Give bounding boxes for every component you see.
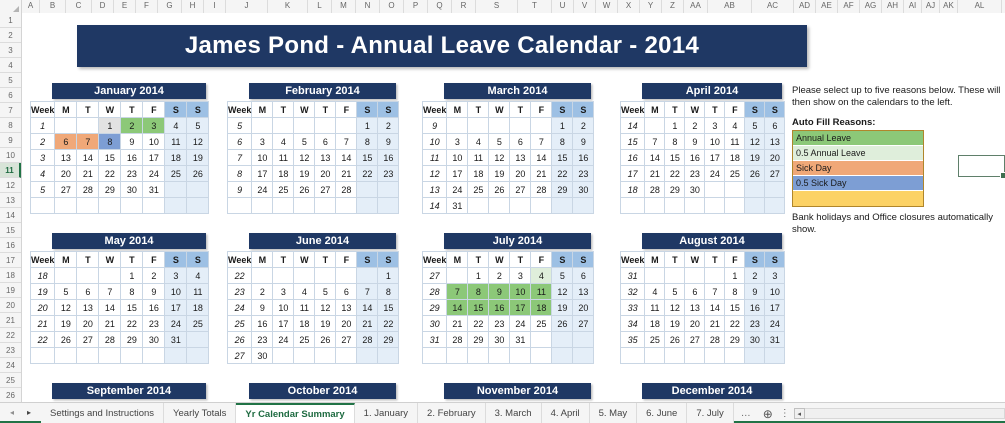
calendar-day-cell[interactable]: 22 xyxy=(725,316,745,332)
column-header-AD[interactable]: AD xyxy=(794,0,816,13)
calendar-day-cell[interactable]: 13 xyxy=(336,300,357,316)
calendar-day-cell[interactable]: 25 xyxy=(645,332,665,348)
calendar-day-cell[interactable]: 2 xyxy=(745,268,765,284)
calendar-empty-cell[interactable] xyxy=(378,182,399,198)
sheet-tab[interactable]: 2. February xyxy=(418,403,486,423)
calendar-empty-cell[interactable] xyxy=(315,348,336,364)
row-header-13[interactable]: 13 xyxy=(0,193,21,208)
horizontal-scrollbar[interactable]: ◂ xyxy=(792,403,1005,423)
calendar-day-cell[interactable]: 21 xyxy=(705,316,725,332)
calendar-day-cell[interactable]: 10 xyxy=(765,284,785,300)
column-header-AL[interactable]: AL xyxy=(958,0,1002,13)
calendar-day-cell[interactable]: 9 xyxy=(121,134,143,150)
calendar-day-cell[interactable]: 4 xyxy=(165,118,187,134)
column-header-AJ[interactable]: AJ xyxy=(922,0,940,13)
calendar-empty-cell[interactable] xyxy=(645,268,665,284)
calendar-day-cell[interactable]: 16 xyxy=(143,300,165,316)
select-all-corner[interactable] xyxy=(0,0,22,13)
column-header-O[interactable]: O xyxy=(380,0,404,13)
calendar-day-cell[interactable]: 14 xyxy=(531,150,552,166)
calendar-day-cell[interactable]: 26 xyxy=(294,182,315,198)
calendar-day-cell[interactable]: 22 xyxy=(665,166,685,182)
calendar-empty-cell[interactable] xyxy=(336,268,357,284)
calendar-day-cell[interactable]: 21 xyxy=(77,166,99,182)
calendar-empty-cell[interactable] xyxy=(447,118,468,134)
calendar-empty-cell[interactable] xyxy=(765,182,785,198)
calendar-empty-cell[interactable] xyxy=(468,198,489,214)
calendar-day-cell[interactable]: 4 xyxy=(294,284,315,300)
calendar-empty-cell[interactable] xyxy=(273,348,294,364)
scroll-left-icon[interactable]: ◂ xyxy=(794,408,805,419)
column-header-P[interactable]: P xyxy=(404,0,428,13)
calendar-day-cell[interactable]: 21 xyxy=(447,316,468,332)
calendar-day-cell[interactable]: 9 xyxy=(685,134,705,150)
calendar-day-cell[interactable]: 20 xyxy=(55,166,77,182)
calendar-day-cell[interactable]: 20 xyxy=(685,316,705,332)
calendar-empty-cell[interactable] xyxy=(165,182,187,198)
sheet-tab-active[interactable]: Yr Calendar Summary xyxy=(236,403,354,423)
calendar-day-cell[interactable]: 8 xyxy=(552,134,573,150)
calendar-empty-cell[interactable] xyxy=(294,268,315,284)
column-header-V[interactable]: V xyxy=(574,0,596,13)
calendar-day-cell[interactable]: 1 xyxy=(725,268,745,284)
sheet-tab[interactable]: Yearly Totals xyxy=(164,403,236,423)
calendar-day-cell[interactable]: 17 xyxy=(510,300,531,316)
calendar-day-cell[interactable]: 7 xyxy=(645,134,665,150)
calendar-empty-cell[interactable] xyxy=(552,332,573,348)
calendar-empty-cell[interactable] xyxy=(665,348,685,364)
column-header-F[interactable]: F xyxy=(136,0,158,13)
calendar-empty-cell[interactable] xyxy=(725,348,745,364)
calendar-empty-cell[interactable] xyxy=(685,198,705,214)
calendar-day-cell[interactable]: 1 xyxy=(468,268,489,284)
calendar-empty-cell[interactable] xyxy=(294,118,315,134)
sheet-tab[interactable]: 6. June xyxy=(637,403,687,423)
calendar-empty-cell[interactable] xyxy=(645,198,665,214)
row-header-16[interactable]: 16 xyxy=(0,238,21,253)
column-header-AC[interactable]: AC xyxy=(752,0,794,13)
calendar-day-cell[interactable]: 28 xyxy=(99,332,121,348)
calendar-day-cell[interactable]: 3 xyxy=(273,284,294,300)
calendar-day-cell[interactable]: 10 xyxy=(143,134,165,150)
legend-reason-row[interactable]: 0.5 Sick Day xyxy=(793,176,923,191)
calendar-day-cell[interactable]: 30 xyxy=(252,348,273,364)
calendar-day-cell[interactable]: 11 xyxy=(645,300,665,316)
column-header-C[interactable]: C xyxy=(66,0,92,13)
calendar-day-cell[interactable]: 3 xyxy=(165,268,187,284)
calendar-day-cell[interactable]: 4 xyxy=(273,134,294,150)
calendar-day-cell[interactable]: 2 xyxy=(489,268,510,284)
calendar-day-cell[interactable]: 10 xyxy=(165,284,187,300)
calendar-day-cell[interactable]: 29 xyxy=(468,332,489,348)
calendar-empty-cell[interactable] xyxy=(725,198,745,214)
calendar-day-cell[interactable]: 14 xyxy=(77,150,99,166)
calendar-day-cell[interactable]: 18 xyxy=(187,300,209,316)
calendar-empty-cell[interactable] xyxy=(187,198,209,214)
calendar-day-cell[interactable]: 22 xyxy=(121,316,143,332)
calendar-day-cell[interactable]: 7 xyxy=(447,284,468,300)
calendar-day-cell[interactable]: 11 xyxy=(725,134,745,150)
calendar-empty-cell[interactable] xyxy=(725,182,745,198)
calendar-day-cell[interactable]: 12 xyxy=(315,300,336,316)
row-header-1[interactable]: 1 xyxy=(0,13,21,28)
tab-menu-icon[interactable]: ⋮ xyxy=(778,403,792,423)
calendar-day-cell[interactable]: 12 xyxy=(55,300,77,316)
column-header-AH[interactable]: AH xyxy=(882,0,904,13)
calendar-empty-cell[interactable] xyxy=(573,198,594,214)
calendar-empty-cell[interactable] xyxy=(77,118,99,134)
calendar-day-cell[interactable]: 31 xyxy=(765,332,785,348)
calendar-day-cell[interactable]: 15 xyxy=(665,150,685,166)
calendar-empty-cell[interactable] xyxy=(99,268,121,284)
row-header-2[interactable]: 2 xyxy=(0,28,21,43)
calendar-day-cell[interactable]: 24 xyxy=(143,166,165,182)
row-header-3[interactable]: 3 xyxy=(0,43,21,58)
sheet-canvas[interactable]: James Pond - Annual Leave Calendar - 201… xyxy=(22,13,1005,402)
calendar-empty-cell[interactable] xyxy=(378,198,399,214)
calendar-day-cell[interactable]: 12 xyxy=(187,134,209,150)
sheet-tab[interactable]: 3. March xyxy=(486,403,542,423)
calendar-day-cell[interactable]: 7 xyxy=(99,284,121,300)
add-sheet-icon[interactable]: ⊕ xyxy=(758,403,778,423)
calendar-day-cell[interactable]: 18 xyxy=(294,316,315,332)
scroll-track[interactable] xyxy=(805,408,1005,419)
calendar-day-cell[interactable]: 7 xyxy=(705,284,725,300)
calendar-empty-cell[interactable] xyxy=(187,332,209,348)
calendar-day-cell[interactable]: 11 xyxy=(165,134,187,150)
row-header-17[interactable]: 17 xyxy=(0,253,21,268)
row-header-14[interactable]: 14 xyxy=(0,208,21,223)
calendar-day-cell[interactable]: 12 xyxy=(294,150,315,166)
calendar-day-cell[interactable]: 28 xyxy=(645,182,665,198)
calendar-day-cell[interactable]: 29 xyxy=(121,332,143,348)
calendar-day-cell[interactable]: 31 xyxy=(165,332,187,348)
calendar-day-cell[interactable]: 29 xyxy=(378,332,399,348)
calendar-day-cell[interactable]: 19 xyxy=(187,150,209,166)
calendar-day-cell[interactable]: 15 xyxy=(378,300,399,316)
calendar-empty-cell[interactable] xyxy=(187,182,209,198)
calendar-day-cell[interactable]: 19 xyxy=(665,316,685,332)
calendar-empty-cell[interactable] xyxy=(573,332,594,348)
calendar-day-cell[interactable]: 15 xyxy=(99,150,121,166)
calendar-day-cell[interactable]: 11 xyxy=(294,300,315,316)
row-header-24[interactable]: 24 xyxy=(0,358,21,373)
calendar-empty-cell[interactable] xyxy=(99,198,121,214)
row-header-6[interactable]: 6 xyxy=(0,88,21,103)
calendar-empty-cell[interactable] xyxy=(531,118,552,134)
calendar-day-cell[interactable]: 8 xyxy=(378,284,399,300)
calendar-empty-cell[interactable] xyxy=(447,268,468,284)
calendar-empty-cell[interactable] xyxy=(510,118,531,134)
column-header-A[interactable]: A xyxy=(22,0,40,13)
sheet-tab[interactable]: 5. May xyxy=(590,403,638,423)
calendar-empty-cell[interactable] xyxy=(745,182,765,198)
calendar-empty-cell[interactable] xyxy=(121,348,143,364)
calendar-day-cell[interactable]: 29 xyxy=(725,332,745,348)
calendar-day-cell[interactable]: 7 xyxy=(336,134,357,150)
column-header-K[interactable]: K xyxy=(268,0,308,13)
row-header-11[interactable]: 11 xyxy=(0,163,21,178)
calendar-day-cell[interactable]: 8 xyxy=(99,134,121,150)
calendar-empty-cell[interactable] xyxy=(378,348,399,364)
column-header-E[interactable]: E xyxy=(114,0,136,13)
calendar-empty-cell[interactable] xyxy=(273,118,294,134)
column-header-Q[interactable]: Q xyxy=(428,0,452,13)
sheet-tab[interactable]: 1. January xyxy=(355,403,418,423)
calendar-day-cell[interactable]: 1 xyxy=(378,268,399,284)
calendar-day-cell[interactable]: 31 xyxy=(143,182,165,198)
calendar-day-cell[interactable]: 31 xyxy=(447,198,468,214)
calendar-day-cell[interactable]: 23 xyxy=(745,316,765,332)
calendar-day-cell[interactable]: 3 xyxy=(705,118,725,134)
calendar-empty-cell[interactable] xyxy=(447,348,468,364)
calendar-day-cell[interactable]: 15 xyxy=(552,150,573,166)
calendar-empty-cell[interactable] xyxy=(315,268,336,284)
calendar-day-cell[interactable]: 25 xyxy=(294,332,315,348)
calendar-empty-cell[interactable] xyxy=(55,348,77,364)
calendar-empty-cell[interactable] xyxy=(165,348,187,364)
tab-nav-next-icon[interactable]: ▸ xyxy=(21,403,37,421)
calendar-empty-cell[interactable] xyxy=(357,182,378,198)
calendar-empty-cell[interactable] xyxy=(489,348,510,364)
calendar-empty-cell[interactable] xyxy=(645,118,665,134)
calendar-day-cell[interactable]: 23 xyxy=(685,166,705,182)
calendar-day-cell[interactable]: 23 xyxy=(489,316,510,332)
calendar-day-cell[interactable]: 20 xyxy=(765,150,785,166)
calendar-empty-cell[interactable] xyxy=(468,118,489,134)
calendar-day-cell[interactable]: 28 xyxy=(447,332,468,348)
calendar-day-cell[interactable]: 8 xyxy=(121,284,143,300)
calendar-day-cell[interactable]: 30 xyxy=(121,182,143,198)
calendar-day-cell[interactable]: 8 xyxy=(357,134,378,150)
calendar-empty-cell[interactable] xyxy=(705,198,725,214)
column-header-AF[interactable]: AF xyxy=(838,0,860,13)
tab-overflow-indicator[interactable]: … xyxy=(734,403,758,423)
calendar-day-cell[interactable]: 5 xyxy=(552,268,573,284)
row-header-7[interactable]: 7 xyxy=(0,103,21,118)
calendar-empty-cell[interactable] xyxy=(531,198,552,214)
calendar-day-cell[interactable]: 9 xyxy=(378,134,399,150)
calendar-empty-cell[interactable] xyxy=(315,118,336,134)
calendar-day-cell[interactable]: 19 xyxy=(315,316,336,332)
row-header-4[interactable]: 4 xyxy=(0,58,21,73)
calendar-empty-cell[interactable] xyxy=(665,268,685,284)
calendar-day-cell[interactable]: 27 xyxy=(55,182,77,198)
calendar-empty-cell[interactable] xyxy=(531,332,552,348)
calendar-day-cell[interactable]: 20 xyxy=(336,316,357,332)
calendar-day-cell[interactable]: 17 xyxy=(252,166,273,182)
column-header-M[interactable]: M xyxy=(332,0,356,13)
calendar-day-cell[interactable]: 5 xyxy=(187,118,209,134)
column-header-T[interactable]: T xyxy=(518,0,552,13)
row-header-9[interactable]: 9 xyxy=(0,133,21,148)
calendar-day-cell[interactable]: 18 xyxy=(725,150,745,166)
column-header-J[interactable]: J xyxy=(226,0,268,13)
calendar-day-cell[interactable]: 29 xyxy=(99,182,121,198)
calendar-day-cell[interactable]: 6 xyxy=(685,284,705,300)
calendar-day-cell[interactable]: 18 xyxy=(645,316,665,332)
calendar-day-cell[interactable]: 6 xyxy=(510,134,531,150)
row-header-19[interactable]: 19 xyxy=(0,283,21,298)
calendar-day-cell[interactable]: 15 xyxy=(121,300,143,316)
calendar-day-cell[interactable]: 7 xyxy=(77,134,99,150)
column-header-Z[interactable]: Z xyxy=(662,0,684,13)
column-header-G[interactable]: G xyxy=(158,0,182,13)
calendar-day-cell[interactable]: 6 xyxy=(77,284,99,300)
calendar-day-cell[interactable]: 23 xyxy=(378,166,399,182)
calendar-day-cell[interactable]: 26 xyxy=(665,332,685,348)
calendar-day-cell[interactable]: 16 xyxy=(378,150,399,166)
calendar-day-cell[interactable]: 24 xyxy=(273,332,294,348)
calendar-day-cell[interactable]: 20 xyxy=(315,166,336,182)
calendar-day-cell[interactable]: 21 xyxy=(645,166,665,182)
calendar-day-cell[interactable]: 18 xyxy=(531,300,552,316)
calendar-day-cell[interactable]: 9 xyxy=(489,284,510,300)
calendar-empty-cell[interactable] xyxy=(77,348,99,364)
calendar-day-cell[interactable]: 16 xyxy=(489,300,510,316)
calendar-day-cell[interactable]: 24 xyxy=(252,182,273,198)
calendar-grid[interactable]: WeekMTWTFSS22123234567824910111213141525… xyxy=(227,251,399,364)
calendar-empty-cell[interactable] xyxy=(143,348,165,364)
calendar-day-cell[interactable]: 17 xyxy=(705,150,725,166)
column-header-Y[interactable]: Y xyxy=(640,0,662,13)
calendar-day-cell[interactable]: 13 xyxy=(685,300,705,316)
calendar-empty-cell[interactable] xyxy=(143,198,165,214)
calendar-day-cell[interactable]: 29 xyxy=(665,182,685,198)
calendar-day-cell[interactable]: 3 xyxy=(143,118,165,134)
calendar-day-cell[interactable]: 6 xyxy=(573,268,594,284)
calendar-day-cell[interactable]: 19 xyxy=(294,166,315,182)
calendar-empty-cell[interactable] xyxy=(121,198,143,214)
calendar-empty-cell[interactable] xyxy=(552,348,573,364)
calendar-empty-cell[interactable] xyxy=(552,198,573,214)
column-header-X[interactable]: X xyxy=(618,0,640,13)
calendar-day-cell[interactable]: 21 xyxy=(99,316,121,332)
calendar-day-cell[interactable]: 27 xyxy=(765,166,785,182)
calendar-day-cell[interactable]: 7 xyxy=(531,134,552,150)
calendar-day-cell[interactable]: 21 xyxy=(336,166,357,182)
row-header-18[interactable]: 18 xyxy=(0,268,21,283)
calendar-day-cell[interactable]: 23 xyxy=(143,316,165,332)
calendar-day-cell[interactable]: 11 xyxy=(468,150,489,166)
calendar-day-cell[interactable]: 14 xyxy=(99,300,121,316)
calendar-day-cell[interactable]: 28 xyxy=(77,182,99,198)
calendar-day-cell[interactable]: 20 xyxy=(573,300,594,316)
calendar-day-cell[interactable]: 13 xyxy=(77,300,99,316)
calendar-day-cell[interactable]: 26 xyxy=(745,166,765,182)
calendar-empty-cell[interactable] xyxy=(765,198,785,214)
calendar-empty-cell[interactable] xyxy=(77,198,99,214)
calendar-day-cell[interactable]: 24 xyxy=(165,316,187,332)
calendar-day-cell[interactable]: 2 xyxy=(252,284,273,300)
calendar-day-cell[interactable]: 17 xyxy=(765,300,785,316)
calendar-day-cell[interactable]: 15 xyxy=(357,150,378,166)
calendar-day-cell[interactable]: 17 xyxy=(165,300,187,316)
calendar-day-cell[interactable]: 26 xyxy=(552,316,573,332)
calendar-day-cell[interactable]: 4 xyxy=(645,284,665,300)
calendar-day-cell[interactable]: 16 xyxy=(745,300,765,316)
calendar-day-cell[interactable]: 24 xyxy=(510,316,531,332)
calendar-day-cell[interactable]: 19 xyxy=(745,150,765,166)
calendar-day-cell[interactable]: 25 xyxy=(273,182,294,198)
calendar-day-cell[interactable]: 22 xyxy=(552,166,573,182)
sheet-tab[interactable]: Settings and Instructions xyxy=(41,403,164,423)
calendar-day-cell[interactable]: 27 xyxy=(685,332,705,348)
calendar-day-cell[interactable]: 4 xyxy=(531,268,552,284)
calendar-empty-cell[interactable] xyxy=(685,348,705,364)
calendar-day-cell[interactable]: 16 xyxy=(573,150,594,166)
calendar-empty-cell[interactable] xyxy=(336,118,357,134)
column-header-AG[interactable]: AG xyxy=(860,0,882,13)
calendar-empty-cell[interactable] xyxy=(468,348,489,364)
calendar-day-cell[interactable]: 2 xyxy=(121,118,143,134)
row-header-25[interactable]: 25 xyxy=(0,373,21,388)
calendar-day-cell[interactable]: 6 xyxy=(55,134,77,150)
calendar-empty-cell[interactable] xyxy=(357,198,378,214)
calendar-empty-cell[interactable] xyxy=(273,268,294,284)
calendar-day-cell[interactable]: 8 xyxy=(468,284,489,300)
calendar-day-cell[interactable]: 15 xyxy=(725,300,745,316)
calendar-day-cell[interactable]: 17 xyxy=(273,316,294,332)
calendar-day-cell[interactable]: 10 xyxy=(705,134,725,150)
calendar-day-cell[interactable]: 27 xyxy=(77,332,99,348)
column-header-I[interactable]: I xyxy=(204,0,226,13)
calendar-day-cell[interactable]: 9 xyxy=(143,284,165,300)
calendar-day-cell[interactable]: 11 xyxy=(273,150,294,166)
calendar-day-cell[interactable]: 27 xyxy=(315,182,336,198)
calendar-empty-cell[interactable] xyxy=(55,198,77,214)
calendar-day-cell[interactable]: 9 xyxy=(745,284,765,300)
calendar-grid[interactable]: WeekMTWTFSS91210345678911101112131415161… xyxy=(422,101,594,214)
calendar-day-cell[interactable]: 14 xyxy=(357,300,378,316)
calendar-empty-cell[interactable] xyxy=(252,268,273,284)
calendar-day-cell[interactable]: 11 xyxy=(187,284,209,300)
calendar-day-cell[interactable]: 25 xyxy=(187,316,209,332)
calendar-day-cell[interactable]: 1 xyxy=(99,118,121,134)
calendar-day-cell[interactable]: 27 xyxy=(573,316,594,332)
calendar-empty-cell[interactable] xyxy=(645,348,665,364)
column-header-AB[interactable]: AB xyxy=(708,0,752,13)
calendar-day-cell[interactable]: 1 xyxy=(665,118,685,134)
calendar-day-cell[interactable]: 19 xyxy=(552,300,573,316)
calendar-day-cell[interactable]: 6 xyxy=(336,284,357,300)
calendar-day-cell[interactable]: 18 xyxy=(468,166,489,182)
calendar-day-cell[interactable]: 25 xyxy=(165,166,187,182)
calendar-day-cell[interactable]: 31 xyxy=(510,332,531,348)
calendar-empty-cell[interactable] xyxy=(531,348,552,364)
calendar-day-cell[interactable]: 29 xyxy=(552,182,573,198)
calendar-day-cell[interactable]: 5 xyxy=(489,134,510,150)
calendar-empty-cell[interactable] xyxy=(294,198,315,214)
calendar-empty-cell[interactable] xyxy=(510,348,531,364)
row-header-20[interactable]: 20 xyxy=(0,298,21,313)
calendar-day-cell[interactable]: 30 xyxy=(745,332,765,348)
row-header-8[interactable]: 8 xyxy=(0,118,21,133)
calendar-grid[interactable]: WeekMTWTFSS31123324567891033111213141516… xyxy=(620,251,785,364)
column-header-AI[interactable]: AI xyxy=(904,0,922,13)
calendar-day-cell[interactable]: 14 xyxy=(705,300,725,316)
calendar-day-cell[interactable]: 3 xyxy=(765,268,785,284)
calendar-empty-cell[interactable] xyxy=(315,198,336,214)
calendar-day-cell[interactable]: 30 xyxy=(489,332,510,348)
calendar-day-cell[interactable]: 5 xyxy=(55,284,77,300)
calendar-day-cell[interactable]: 17 xyxy=(447,166,468,182)
calendar-empty-cell[interactable] xyxy=(336,348,357,364)
calendar-day-cell[interactable]: 14 xyxy=(645,150,665,166)
calendar-day-cell[interactable]: 17 xyxy=(143,150,165,166)
calendar-day-cell[interactable]: 1 xyxy=(552,118,573,134)
column-header-AA[interactable]: AA xyxy=(684,0,708,13)
